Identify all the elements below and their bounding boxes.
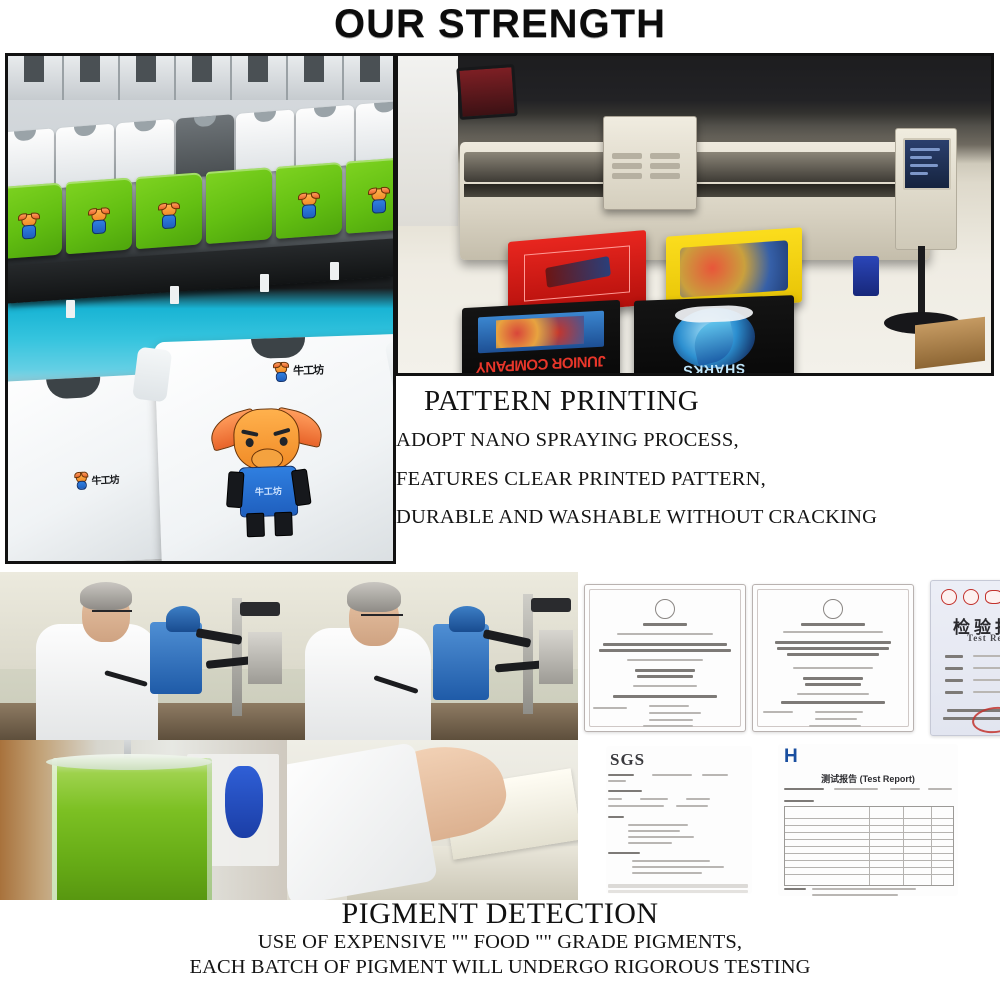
h-report-title-en: (Test Report) <box>860 774 915 784</box>
photo-green-pigment-beaker <box>0 740 287 900</box>
printer-control-screen[interactable] <box>903 138 951 190</box>
pigment-detection-block: PIGMENT DETECTION USE OF EXPENSIVE "" FO… <box>0 898 1000 980</box>
control-tablet <box>456 64 517 120</box>
print-head-carriage <box>603 116 697 210</box>
poster-root: OUR STRENGTH <box>0 0 1000 1000</box>
photo-lab-technician-b <box>287 572 578 740</box>
h-report-table <box>784 806 954 886</box>
bull-mascot-large: 牛工坊 <box>210 395 325 539</box>
pattern-line-1: ADOPT NANO SPRAYING PROCESS, <box>396 430 996 451</box>
pattern-heading: PATTERN PRINTING <box>396 385 996 418</box>
certificates-row-top: 检验报告 Test Report <box>578 572 1000 740</box>
certificates-row-bottom: SGS H 测试报告 <box>578 740 1000 900</box>
shark-graphic: SHARKS <box>659 306 769 373</box>
h-logo: H <box>784 746 798 768</box>
certificate-iso-1 <box>584 584 746 732</box>
shirt-print-label-sharks: SHARKS <box>659 360 769 373</box>
photo-dtg-flatbed-printer: JUNIOR COMPANY SHARKS <box>395 53 994 376</box>
certificate-test-report: 检验报告 Test Report <box>930 580 1000 736</box>
test-report-title-en: Test Report <box>931 633 1000 643</box>
h-report-title-cn: 测试报告 <box>821 774 857 784</box>
mascot-chest-text: 牛工坊 <box>255 484 282 498</box>
photo-lab-technician-a <box>0 572 287 740</box>
pattern-line-3: DURABLE AND WASHABLE WITHOUT CRACKING <box>396 507 996 528</box>
shirt-small-logo-right: 牛工坊 <box>273 361 324 381</box>
pigment-line-2: EACH BATCH OF PIGMENT WILL UNDERGO RIGOR… <box>0 955 1000 980</box>
pigment-heading: PIGMENT DETECTION <box>0 898 1000 930</box>
printed-shirt-sharks: SHARKS <box>634 295 794 373</box>
foreground-shirt-right: 牛工坊 牛工坊 <box>154 334 393 561</box>
beaker-glass <box>52 758 212 900</box>
photo-hands-handling-sample <box>287 740 578 900</box>
shirt-logo-text-left: 牛工坊 <box>91 470 119 486</box>
shirt-small-logo-left: 牛工坊 <box>74 470 119 488</box>
certificate-iso-2 <box>752 584 914 732</box>
photo-screen-printing-carousel: 牛工坊 牛工坊 <box>5 53 396 564</box>
shirt-logo-text-right: 牛工坊 <box>293 362 324 379</box>
pattern-line-2: FEATURES CLEAR PRINTED PATTERN, <box>396 469 996 490</box>
report-sgs: SGS <box>606 746 752 894</box>
printed-shirt-junior-company: JUNIOR COMPANY <box>462 300 620 373</box>
shirt-print-label-junior: JUNIOR COMPANY <box>462 352 620 373</box>
report-h-test: H 测试报告 (Test Report) <box>778 744 958 896</box>
bull-mascot-icon <box>19 212 39 239</box>
page-title: OUR STRENGTH <box>0 0 1000 48</box>
pattern-printing-block: PATTERN PRINTING ADOPT NANO SPRAYING PRO… <box>396 385 996 546</box>
pigment-line-1: USE OF EXPENSIVE "" FOOD "" GRADE PIGMEN… <box>0 930 1000 955</box>
sgs-logo: SGS <box>610 750 645 770</box>
